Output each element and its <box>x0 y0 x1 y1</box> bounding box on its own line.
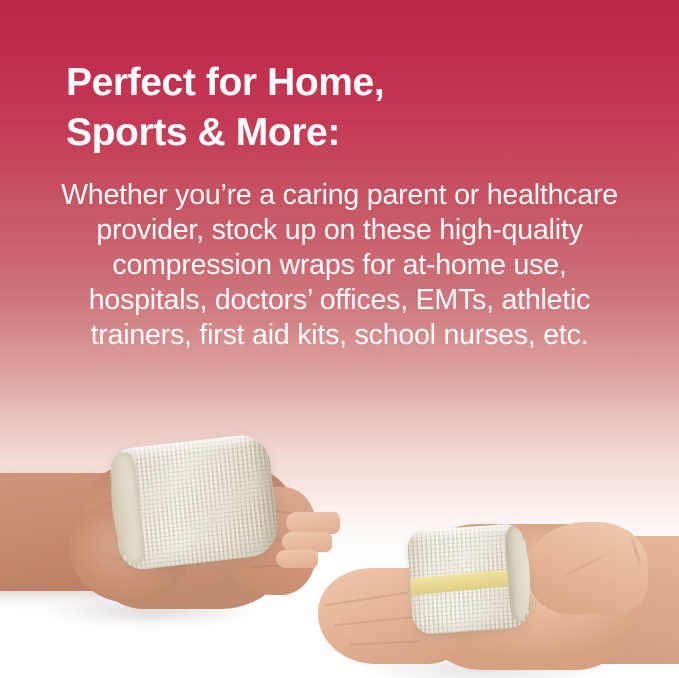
left-compression-wrap-roll <box>108 432 281 571</box>
promo-banner: Perfect for Home, Sports & More: Whether… <box>0 0 679 678</box>
product-photo-layer <box>0 0 679 678</box>
right-compression-wrap-roll <box>407 523 532 635</box>
